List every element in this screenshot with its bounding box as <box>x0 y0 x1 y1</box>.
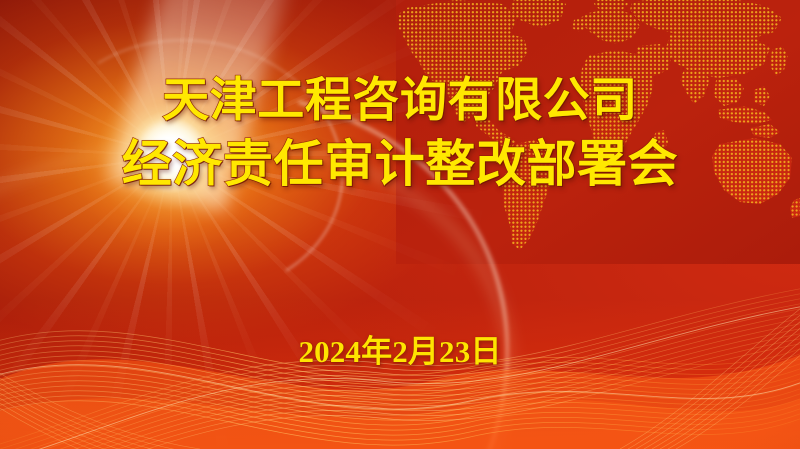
banner-date: 2024年2月23日 <box>0 326 800 371</box>
banner-title-line-2: 经济责任审计整改部署会 <box>0 139 800 189</box>
event-banner: 天津工程咨询有限公司 经济责任审计整改部署会 2024年2月23日 <box>0 0 800 449</box>
banner-title-line-1: 天津工程咨询有限公司 <box>0 78 800 125</box>
banner-title-block: 天津工程咨询有限公司 经济责任审计整改部署会 <box>0 78 800 189</box>
